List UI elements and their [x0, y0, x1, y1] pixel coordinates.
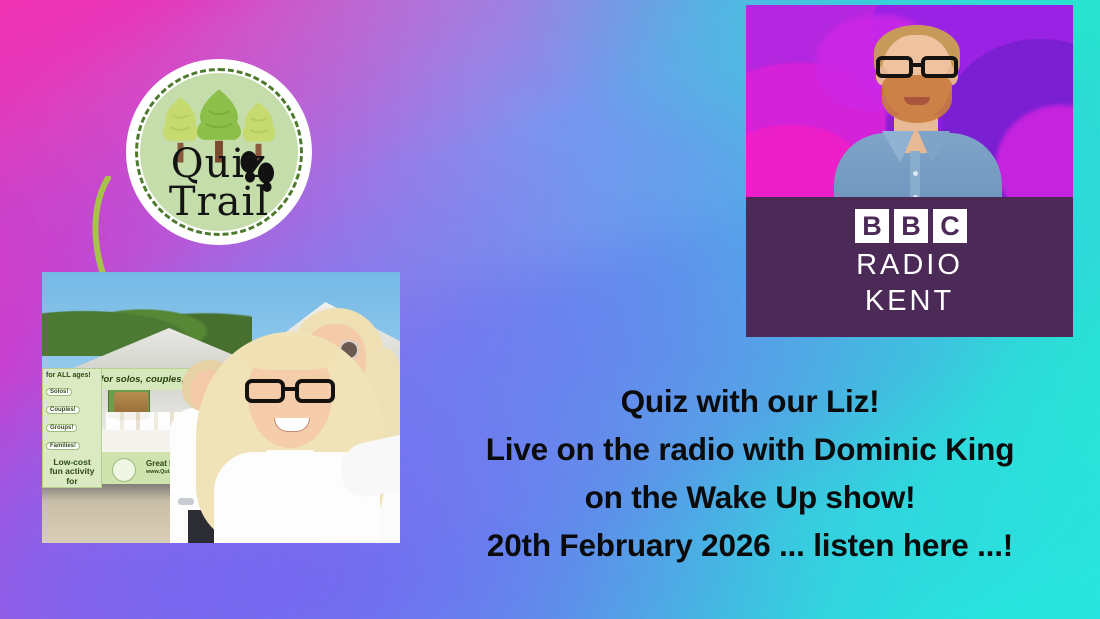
- event-selfie-photo: Great Days Out www.QuizTrail.co.uk Fun f…: [42, 272, 400, 543]
- bbc-wordmark-block: B B C RADIO KENT: [746, 197, 1073, 337]
- photo-poster-pill: Couples!: [46, 406, 80, 414]
- logo-inner-circle: Quiz Trail: [140, 73, 298, 231]
- bbc-station-line-2: KENT: [746, 285, 1073, 318]
- photo-table-logo: [112, 458, 136, 482]
- photo-poster-pill: Families!: [46, 442, 80, 450]
- promo-poster: Quiz Trail Great Days Out www.QuizTrail.…: [0, 0, 1100, 619]
- headline-line-2: Live on the radio with Dominic King: [418, 426, 1082, 474]
- headline-text: Quiz with our Liz! Live on the radio wit…: [418, 378, 1082, 570]
- headline-line-1: Quiz with our Liz!: [418, 378, 1082, 426]
- headline-line-4: 20th February 2026 ... listen here ...!: [418, 522, 1082, 570]
- presenter-mouth: [904, 97, 930, 105]
- bbc-letter-block: C: [933, 209, 967, 243]
- eyeglasses-icon: [244, 378, 336, 404]
- bbc-letter-block: B: [894, 209, 928, 243]
- logo-word-trail: Trail: [140, 183, 298, 221]
- bbc-letter-block: B: [855, 209, 889, 243]
- photo-poster-line-1: for ALL ages!: [46, 372, 98, 380]
- headline-line-3: on the Wake Up show!: [418, 474, 1082, 522]
- photo-person-fringe: [242, 336, 338, 370]
- bbc-logo: B B C: [855, 209, 967, 243]
- presenter-button: [913, 171, 918, 176]
- bbc-station-line-1: RADIO: [746, 249, 1073, 282]
- presenter-photo: [746, 5, 1073, 197]
- photo-poster-pill: Groups!: [46, 424, 77, 432]
- photo-person-front-centre: [190, 320, 390, 543]
- logo-word-quiz: Quiz: [140, 145, 298, 183]
- photo-info-poster: for ALL ages! Solos! Couples! Groups! Fa…: [42, 368, 102, 488]
- eyeglasses-icon: [876, 55, 958, 79]
- photo-poster-pills: Solos! Couples! Groups! Families!: [46, 380, 98, 452]
- photo-poster-line-2: Low-cost fun activity for everyone!: [46, 458, 98, 488]
- photo-poster-pill: Solos!: [46, 388, 72, 396]
- quiz-trail-logo: Quiz Trail: [126, 59, 312, 245]
- bbc-radio-kent-panel: B B C RADIO KENT: [746, 5, 1073, 337]
- presenter-figure: [830, 23, 1006, 197]
- logo-wordmark: Quiz Trail: [140, 145, 298, 222]
